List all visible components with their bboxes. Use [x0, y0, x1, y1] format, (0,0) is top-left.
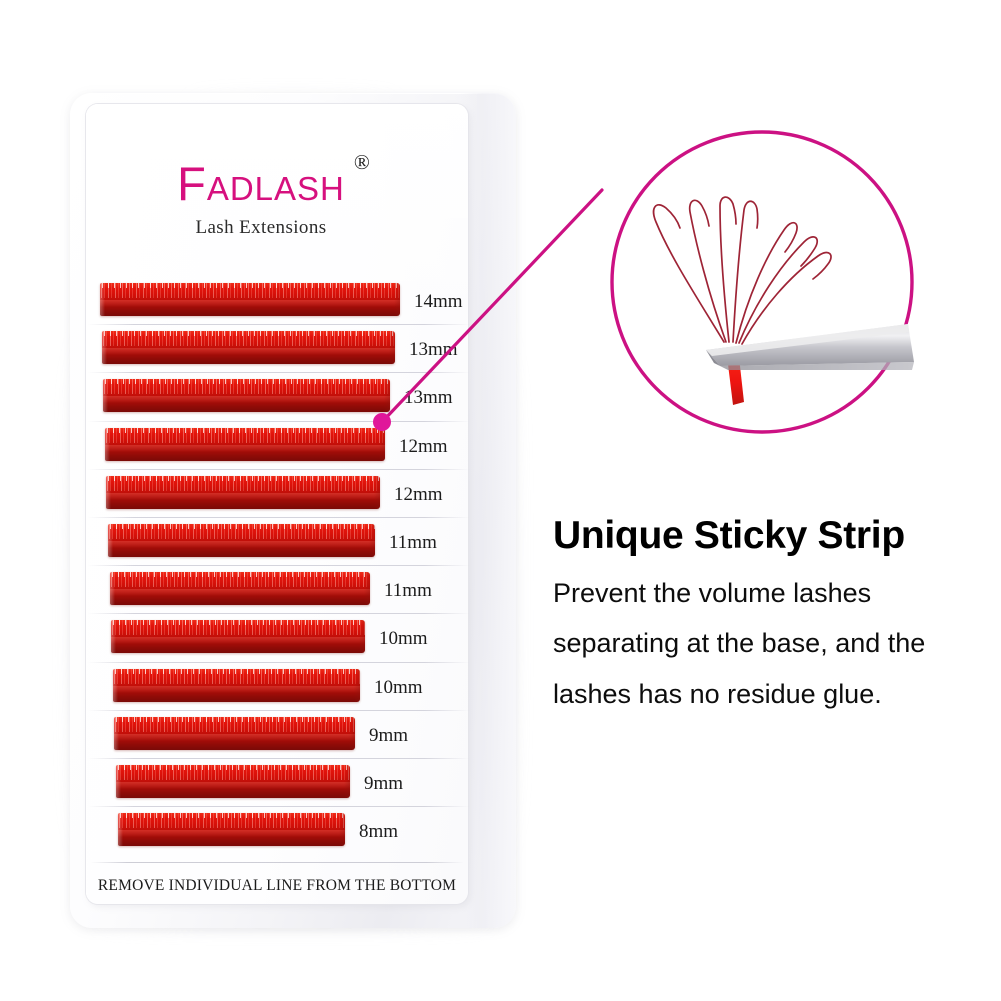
lash-size-label: 9mm — [369, 725, 408, 747]
lash-row-divider — [88, 469, 470, 470]
lash-right-edge — [354, 669, 360, 702]
lash-gloss — [113, 686, 360, 693]
lash-right-edge — [394, 283, 400, 316]
lash-left-edge — [100, 283, 105, 316]
lash-fiber-tips — [118, 813, 345, 818]
brand-lockup: Fadlash ® Lash Extensions — [86, 160, 436, 239]
lash-left-edge — [110, 572, 115, 605]
lash-right-edge — [344, 765, 350, 798]
lash-fiber-tips — [106, 476, 380, 481]
lash-right-edge — [339, 813, 345, 846]
lash-strip[interactable] — [110, 572, 370, 605]
callout-circle-ring — [578, 126, 946, 438]
instruction-divider — [90, 862, 464, 863]
lash-strip[interactable] — [102, 331, 395, 364]
lash-gloss — [102, 348, 395, 355]
lash-strip[interactable] — [111, 620, 365, 653]
lash-fiber-tips — [103, 379, 390, 384]
lash-size-label: 10mm — [379, 628, 428, 650]
lash-fiber-tips — [114, 717, 355, 722]
lash-row-divider — [88, 758, 470, 759]
lash-size-label: 8mm — [359, 821, 398, 843]
lash-size-label: 12mm — [394, 484, 443, 506]
lash-gloss — [111, 637, 365, 644]
lash-fiber-tips — [110, 572, 370, 577]
lash-size-label: 13mm — [404, 387, 453, 409]
lash-row[interactable]: 11mm — [86, 572, 468, 605]
lash-row-divider — [88, 710, 470, 711]
lash-row-divider — [88, 324, 470, 325]
lash-left-edge — [114, 717, 119, 750]
lash-row[interactable]: 10mm — [86, 669, 468, 702]
lash-gloss — [108, 541, 375, 548]
lash-gloss — [118, 830, 345, 837]
product-image-canvas: Fadlash ® Lash Extensions 14mm13mm13mm12… — [0, 0, 1001, 1001]
brand-tagline: Lash Extensions — [86, 217, 436, 239]
lash-left-edge — [106, 476, 111, 509]
lash-fiber-tips — [116, 765, 350, 770]
marketing-line-3: lashes has no residue glue. — [553, 680, 973, 708]
lash-size-label: 14mm — [414, 291, 463, 313]
marketing-line-2: separating at the base, and the — [553, 629, 973, 657]
lash-left-edge — [111, 620, 116, 653]
brand-name-text: Fadlash — [177, 157, 345, 210]
lash-strip[interactable] — [113, 669, 360, 702]
lash-left-edge — [113, 669, 118, 702]
marketing-copy: Unique Sticky Strip Prevent the volume l… — [553, 516, 973, 708]
lash-size-label: 9mm — [364, 773, 403, 795]
lash-fiber-tips — [113, 669, 360, 674]
lash-row[interactable]: 10mm — [86, 620, 468, 653]
lash-row-divider — [88, 662, 470, 663]
lash-strip[interactable] — [105, 428, 385, 461]
lash-left-edge — [116, 765, 121, 798]
lash-left-edge — [105, 428, 110, 461]
magnified-callout — [578, 126, 946, 438]
instruction-band: REMOVE INDIVIDUAL LINE FROM THE BOTTOM — [86, 866, 468, 906]
lash-gloss — [116, 782, 350, 789]
lash-row-divider — [88, 517, 470, 518]
lash-strip[interactable] — [108, 524, 375, 557]
lash-fiber-tips — [100, 283, 400, 288]
lash-size-label: 13mm — [409, 339, 458, 361]
lash-left-edge — [118, 813, 123, 846]
lash-right-edge — [359, 620, 365, 653]
lash-size-label: 12mm — [399, 436, 448, 458]
registered-trademark-icon: ® — [354, 152, 371, 173]
lash-row[interactable]: 13mm — [86, 331, 468, 364]
lash-gloss — [106, 493, 380, 500]
marketing-line-1: Prevent the volume lashes — [553, 579, 973, 607]
lash-row[interactable]: 12mm — [86, 476, 468, 509]
lash-row-divider — [88, 565, 470, 566]
lash-right-edge — [379, 428, 385, 461]
lash-gloss — [100, 300, 400, 307]
lash-row-divider — [88, 372, 470, 373]
lash-row[interactable]: 9mm — [86, 717, 468, 750]
lash-row[interactable]: 12mm — [86, 428, 468, 461]
lash-left-edge — [108, 524, 113, 557]
lash-size-label: 10mm — [374, 677, 423, 699]
lash-right-edge — [374, 476, 380, 509]
lash-row[interactable]: 11mm — [86, 524, 468, 557]
lash-row[interactable]: 13mm — [86, 379, 468, 412]
lash-gloss — [103, 396, 390, 403]
lash-row-divider — [88, 421, 470, 422]
lash-gloss — [110, 589, 370, 596]
lash-size-label: 11mm — [384, 580, 432, 602]
lash-row-divider — [88, 806, 470, 807]
lash-fiber-tips — [102, 331, 395, 336]
lash-strip[interactable] — [106, 476, 380, 509]
lash-right-edge — [389, 331, 395, 364]
lash-row-list: 14mm13mm13mm12mm12mm11mm11mm10mm10mm9mm9… — [86, 283, 468, 863]
lash-row[interactable]: 9mm — [86, 765, 468, 798]
lash-strip[interactable] — [118, 813, 345, 846]
instruction-text: REMOVE INDIVIDUAL LINE FROM THE BOTTOM — [98, 877, 456, 895]
lash-row-divider — [88, 613, 470, 614]
lash-strip[interactable] — [114, 717, 355, 750]
lash-right-edge — [369, 524, 375, 557]
lash-right-edge — [349, 717, 355, 750]
lash-row[interactable]: 14mm — [86, 283, 468, 316]
lash-fiber-tips — [111, 620, 365, 625]
lash-strip[interactable] — [100, 283, 400, 316]
lash-right-edge — [384, 379, 390, 412]
lash-left-edge — [102, 331, 107, 364]
lash-gloss — [114, 734, 355, 741]
lash-left-edge — [103, 379, 108, 412]
lash-strip[interactable] — [116, 765, 350, 798]
brand-name: Fadlash ® — [177, 160, 345, 207]
lash-fiber-tips — [108, 524, 375, 529]
lash-gloss — [105, 445, 385, 452]
marketing-title: Unique Sticky Strip — [553, 516, 973, 557]
lash-strip[interactable] — [103, 379, 390, 412]
lash-size-label: 11mm — [389, 532, 437, 554]
lash-right-edge — [364, 572, 370, 605]
lash-row[interactable]: 8mm — [86, 813, 468, 846]
lash-fiber-tips — [105, 428, 385, 433]
